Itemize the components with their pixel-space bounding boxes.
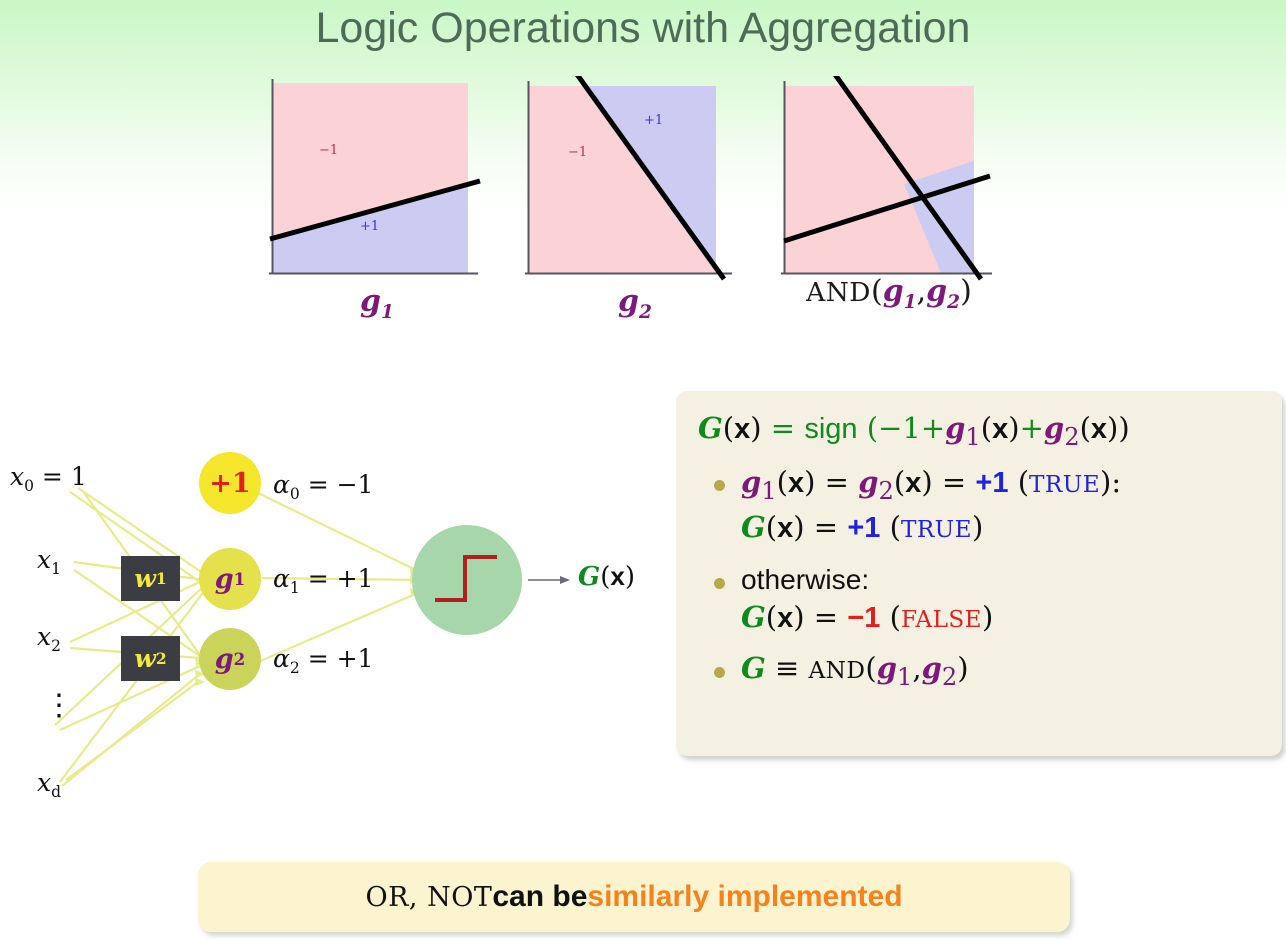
bullet-item-equivalence: G ≡ AND(g1,g2)	[692, 649, 1266, 694]
bullet-1-line-2: G(x) = +1 (TRUE)	[741, 508, 1121, 547]
explanation-panel: G(x) = sign (−1+g1(x)+g2(x)) g1(x) = g2(…	[676, 391, 1282, 756]
decision-region-panel-g1: −1 +1 g1	[262, 76, 492, 281]
panel-caption-and: AND(g1,g2)	[764, 274, 1014, 313]
hidden-node-plus-one: +1	[199, 452, 261, 514]
bullet-dot	[714, 480, 725, 491]
panel-g2-plot: −1 +1	[520, 76, 755, 281]
page-title: Logic Operations with Aggregation	[0, 4, 1286, 53]
panel-and-plot	[776, 76, 1016, 281]
decision-region-panel-and: AND(g1,g2)	[776, 76, 1016, 281]
callout-black-text: can be	[492, 880, 587, 914]
neural-network-diagram: x0 = 1 x1 x2 ⋮ xd w1 w2 +1 g1 g2 α0 = −1…	[0, 430, 680, 830]
alpha-label-2: α2 = +1	[273, 644, 373, 677]
bullet-3-line-1: G ≡ AND(g1,g2)	[741, 649, 969, 694]
input-label-x1: x1	[37, 545, 61, 578]
panel-g1-plot: −1 +1	[262, 76, 492, 281]
hidden-node-g2: g2	[199, 628, 261, 690]
input-label-xd: xd	[37, 768, 61, 801]
bullet-dot	[714, 667, 725, 678]
callout-orange-text: similarly implemented	[587, 880, 902, 914]
bullet-text: G ≡ AND(g1,g2)	[741, 649, 969, 694]
weight-box-w1: w1	[121, 556, 180, 601]
panel-caption-g2: g2	[520, 284, 750, 323]
main-formula: G(x) = sign (−1+g1(x)+g2(x))	[698, 411, 1266, 451]
bullet-2-line-1: otherwise:	[741, 561, 993, 598]
bullet-dot	[714, 578, 725, 589]
hidden-node-g1: g1	[199, 548, 261, 610]
label-negative-g1: −1	[319, 143, 338, 158]
label-positive-g2: +1	[644, 113, 663, 128]
footer-callout: OR, NOT can be similarly implemented	[198, 862, 1070, 932]
bullet-2-line-2: G(x) = −1 (FALSE)	[741, 598, 993, 637]
input-label-x0: x0 = 1	[10, 462, 87, 495]
input-vertical-dots: ⋮	[44, 702, 74, 710]
input-label-x2: x2	[37, 622, 61, 655]
bullet-text: otherwise: G(x) = −1 (FALSE)	[741, 561, 993, 637]
bullet-text: g1(x) = g2(x) = +1 (TRUE): G(x) = +1 (TR…	[741, 463, 1121, 547]
alpha-label-1: α1 = +1	[273, 564, 373, 597]
bullet-item-false-case: otherwise: G(x) = −1 (FALSE)	[692, 561, 1266, 637]
weight-box-w2: w2	[121, 636, 180, 681]
callout-mono-text: OR, NOT	[365, 882, 492, 913]
decision-region-panel-g2: −1 +1 g2	[520, 76, 750, 281]
panel-caption-g1: g1	[262, 284, 492, 323]
label-positive-g1: +1	[360, 219, 379, 234]
alpha-label-0: α0 = −1	[273, 470, 373, 503]
bullet-item-true-case: g1(x) = g2(x) = +1 (TRUE): G(x) = +1 (TR…	[692, 463, 1266, 547]
output-label-G: G(x)	[578, 561, 635, 592]
label-negative-g2: −1	[568, 145, 587, 160]
bullet-1-line-1: g1(x) = g2(x) = +1 (TRUE):	[741, 463, 1121, 508]
